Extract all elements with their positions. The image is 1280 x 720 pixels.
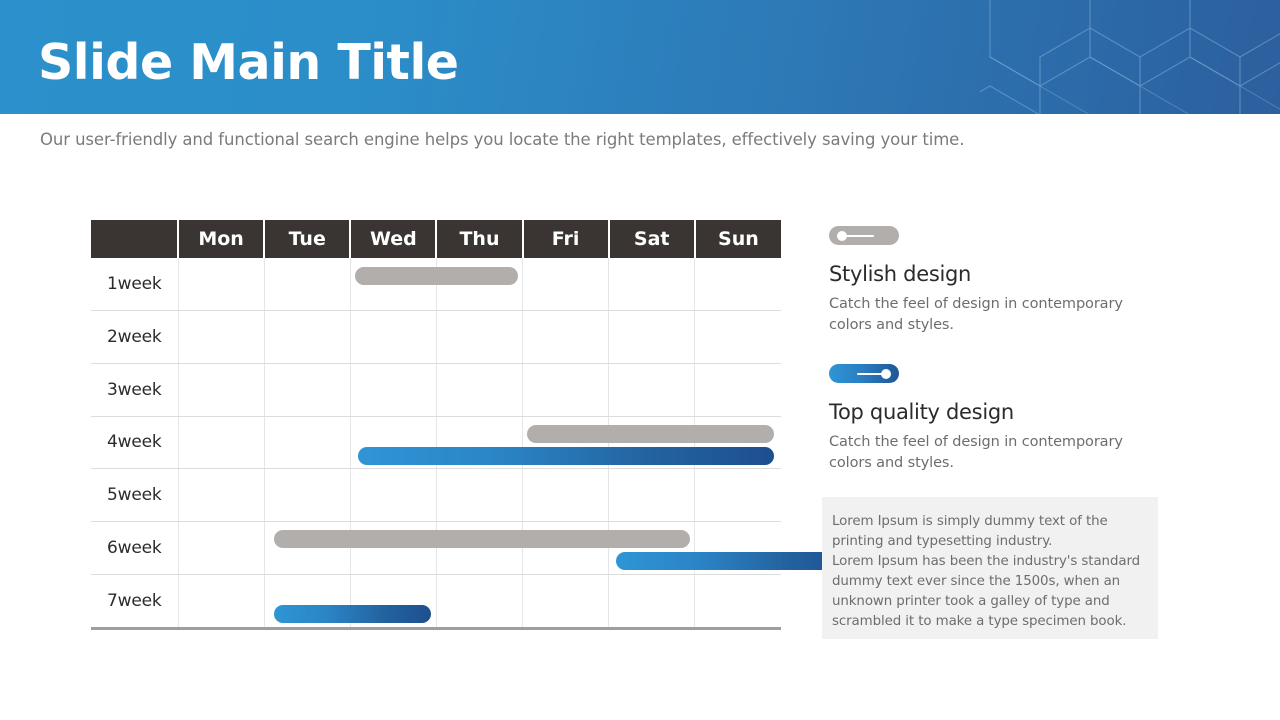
gantt-cell[interactable] (178, 258, 264, 311)
gantt-cell[interactable] (609, 469, 695, 522)
gantt-cell[interactable] (264, 311, 350, 364)
gantt-cell[interactable] (350, 311, 436, 364)
feature-description-1: Catch the feel of design in contemporary… (829, 294, 1169, 335)
gantt-cell[interactable] (609, 363, 695, 416)
gantt-cell[interactable] (264, 574, 350, 627)
hexagon-outline-pattern-icon (980, 0, 1280, 114)
gantt-cell[interactable] (350, 521, 436, 574)
slide-subtitle: Our user-friendly and functional search … (40, 130, 964, 149)
gantt-row-label-2week: 2week (91, 311, 178, 364)
gantt-cell[interactable] (695, 416, 781, 469)
gantt-cell[interactable] (264, 258, 350, 311)
feature-block-1: Stylish design Catch the feel of design … (829, 226, 1169, 335)
gantt-table-header: Mon Tue Wed Thu Fri Sat Sun (91, 220, 781, 258)
gantt-corner-cell (91, 220, 178, 258)
gantt-cell[interactable] (178, 469, 264, 522)
slide-canvas: Slide Main Title Our user-friendly and f… (0, 0, 1280, 720)
toggle-switch-on-icon[interactable] (829, 364, 899, 383)
toggle-switch-off-icon[interactable] (829, 226, 899, 245)
gantt-cell[interactable] (436, 363, 522, 416)
gantt-row-label-5week: 5week (91, 469, 178, 522)
table-row: 7week (91, 574, 781, 627)
gantt-cell[interactable] (350, 416, 436, 469)
feature-block-2: Top quality design Catch the feel of des… (829, 364, 1169, 473)
gantt-col-wed: Wed (350, 220, 436, 258)
gantt-cell[interactable] (695, 469, 781, 522)
feature-title-2: Top quality design (829, 400, 1169, 424)
gantt-cell[interactable] (264, 469, 350, 522)
toggle-knob (837, 231, 847, 241)
toggle-knob (881, 369, 891, 379)
gantt-cell[interactable] (695, 258, 781, 311)
gantt-row-label-1week: 1week (91, 258, 178, 311)
gantt-cell[interactable] (264, 363, 350, 416)
table-row: 4week (91, 416, 781, 469)
note-box-text: Lorem Ipsum is simply dummy text of the … (832, 512, 1150, 632)
gantt-cell[interactable] (350, 363, 436, 416)
gantt-cell[interactable] (350, 258, 436, 311)
gantt-cell[interactable] (436, 311, 522, 364)
table-row: 1week (91, 258, 781, 311)
gantt-cell[interactable] (609, 574, 695, 627)
gantt-cell[interactable] (523, 416, 609, 469)
gantt-cell[interactable] (350, 574, 436, 627)
gantt-cell[interactable] (523, 258, 609, 311)
gantt-cell[interactable] (695, 363, 781, 416)
gantt-cell[interactable] (695, 521, 781, 574)
gantt-cell[interactable] (178, 521, 264, 574)
gantt-cell[interactable] (609, 311, 695, 364)
toggle-track (857, 373, 883, 375)
table-row: 2week (91, 311, 781, 364)
gantt-cell[interactable] (350, 469, 436, 522)
gantt-cell[interactable] (178, 311, 264, 364)
gantt-cell[interactable] (609, 258, 695, 311)
toggle-track (846, 235, 874, 237)
gantt-col-fri: Fri (523, 220, 609, 258)
gantt-table-body: 1week 2week 3week (91, 258, 781, 627)
gantt-cell[interactable] (523, 574, 609, 627)
gantt-col-mon: Mon (178, 220, 264, 258)
gantt-cell[interactable] (436, 416, 522, 469)
gantt-cell[interactable] (436, 469, 522, 522)
gantt-col-tue: Tue (264, 220, 350, 258)
gantt-row-label-6week: 6week (91, 521, 178, 574)
gantt-cell[interactable] (436, 258, 522, 311)
table-row: 3week (91, 363, 781, 416)
gantt-cell[interactable] (523, 363, 609, 416)
feature-description-2: Catch the feel of design in contemporary… (829, 432, 1169, 473)
gantt-cell[interactable] (695, 574, 781, 627)
table-row: 6week (91, 521, 781, 574)
gantt-cell[interactable] (523, 469, 609, 522)
gantt-cell[interactable] (609, 416, 695, 469)
gantt-header-row: Mon Tue Wed Thu Fri Sat Sun (91, 220, 781, 258)
gantt-cell[interactable] (264, 521, 350, 574)
gantt-row-label-4week: 4week (91, 416, 178, 469)
gantt-row-label-7week: 7week (91, 574, 178, 627)
gantt-bottom-rule (91, 627, 781, 630)
gantt-chart: Mon Tue Wed Thu Fri Sat Sun 1week (91, 220, 781, 630)
gantt-cell[interactable] (523, 311, 609, 364)
gantt-cell[interactable] (523, 521, 609, 574)
gantt-cell[interactable] (178, 363, 264, 416)
gantt-col-sun: Sun (695, 220, 781, 258)
page-title: Slide Main Title (38, 38, 459, 87)
gantt-cell[interactable] (436, 521, 522, 574)
gantt-cell[interactable] (178, 416, 264, 469)
slide-header-banner: Slide Main Title (0, 0, 1280, 114)
features-panel: Stylish design Catch the feel of design … (829, 226, 1169, 473)
gantt-cell[interactable] (178, 574, 264, 627)
gantt-cell[interactable] (436, 574, 522, 627)
gantt-cell[interactable] (695, 311, 781, 364)
gantt-table: Mon Tue Wed Thu Fri Sat Sun 1week (91, 220, 781, 627)
gantt-cell[interactable] (609, 521, 695, 574)
table-row: 5week (91, 469, 781, 522)
gantt-row-label-3week: 3week (91, 363, 178, 416)
feature-title-1: Stylish design (829, 262, 1169, 286)
gantt-col-thu: Thu (436, 220, 522, 258)
note-box: Lorem Ipsum is simply dummy text of the … (822, 497, 1158, 639)
gantt-col-sat: Sat (609, 220, 695, 258)
gantt-cell[interactable] (264, 416, 350, 469)
